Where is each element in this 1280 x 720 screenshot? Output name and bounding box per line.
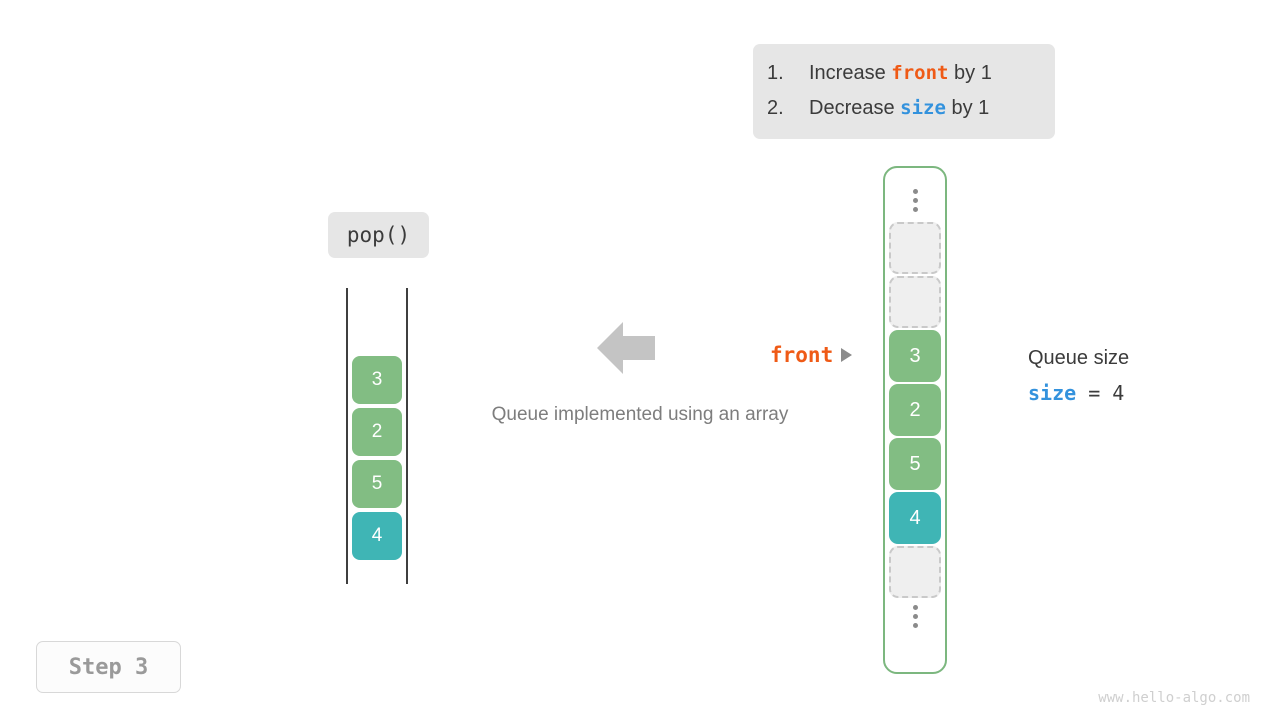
array-cell: 3 [889, 330, 941, 382]
queue-size-equals: = [1076, 381, 1112, 405]
instruction-number: 1. [767, 56, 809, 91]
instruction-text-prefix: Increase [809, 56, 891, 91]
logical-queue: 3254 [346, 288, 408, 584]
front-pointer-label: front [770, 343, 833, 367]
array-cell: 2 [889, 384, 941, 436]
logical-queue-cells: 3254 [352, 356, 402, 560]
instruction-code-size: size [900, 91, 946, 126]
vertical-dots-icon [913, 598, 918, 634]
instruction-text-prefix: Decrease [809, 91, 900, 126]
diagram-caption: Queue implemented using an array [455, 404, 825, 426]
array-container: 3254 [883, 166, 947, 674]
array-cell-empty [889, 222, 941, 274]
arrow-left-icon [597, 322, 655, 374]
instruction-text-suffix: by 1 [946, 91, 989, 126]
step-badge: Step 3 [36, 641, 181, 693]
queue-rail-left [346, 288, 348, 584]
array-cells: 3254 [889, 222, 941, 598]
instruction-item: 1. Increase front by 1 [767, 56, 1039, 91]
queue-cell: 3 [352, 356, 402, 404]
queue-size-expression: size = 4 [1028, 381, 1129, 405]
queue-size-variable: size [1028, 381, 1076, 405]
queue-rail-right [406, 288, 408, 584]
array-cell: 5 [889, 438, 941, 490]
instruction-number: 2. [767, 91, 809, 126]
queue-cell: 5 [352, 460, 402, 508]
queue-cell: 4 [352, 512, 402, 560]
instruction-text-suffix: by 1 [948, 56, 991, 91]
instruction-callout: 1. Increase front by 1 2. Decrease size … [753, 44, 1055, 139]
queue-size-title: Queue size [1028, 344, 1129, 372]
array-cell-empty [889, 546, 941, 598]
array-cell-empty [889, 276, 941, 328]
front-pointer: front [770, 343, 852, 367]
queue-size-readout: Queue size size = 4 [1028, 344, 1129, 405]
queue-cell: 2 [352, 408, 402, 456]
vertical-dots-icon [913, 182, 918, 218]
instruction-code-front: front [891, 56, 948, 91]
queue-size-value: 4 [1112, 381, 1124, 405]
array-cell: 4 [889, 492, 941, 544]
instruction-item: 2. Decrease size by 1 [767, 91, 1039, 126]
triangle-right-icon [841, 348, 852, 362]
watermark: www.hello-algo.com [1098, 690, 1250, 706]
operation-label-pop: pop() [328, 212, 429, 258]
